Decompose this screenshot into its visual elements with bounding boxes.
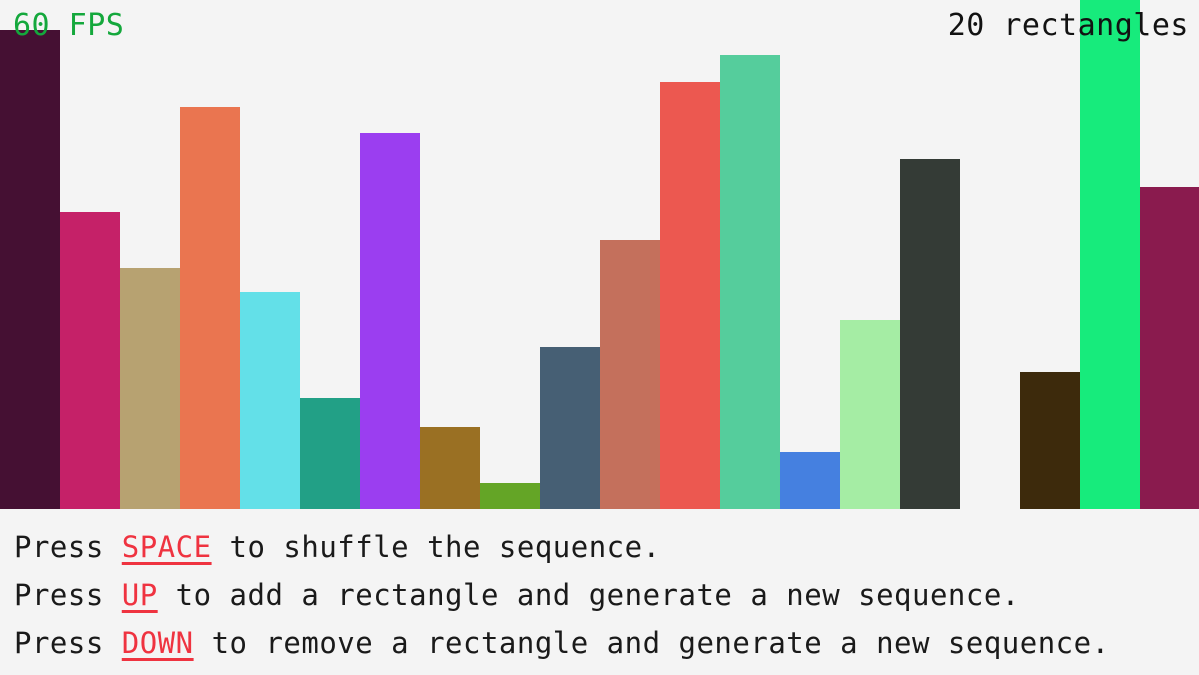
instruction-suffix: to shuffle the sequence.	[212, 530, 661, 564]
bar-rect	[600, 240, 660, 509]
rectangle-visualizer-app: 60 FPS 20 rectangles Press SPACE to shuf…	[0, 0, 1199, 675]
instruction-suffix: to remove a rectangle and generate a new…	[194, 626, 1110, 660]
instruction-prefix: Press	[14, 530, 122, 564]
key-hint-down[interactable]: DOWN	[122, 626, 194, 660]
bar-rect	[180, 107, 240, 509]
bar-rect	[480, 483, 540, 509]
rectangle-count-label: 20 rectangles	[948, 11, 1189, 41]
bar-chart-canvas[interactable]	[0, 0, 1199, 509]
bar-rect	[300, 398, 360, 509]
bar-rect	[1080, 0, 1140, 509]
bar-rect	[660, 82, 720, 509]
bar-rect	[840, 320, 900, 509]
bar-rect	[780, 452, 840, 509]
bar-rect	[1020, 372, 1080, 509]
key-hint-up[interactable]: UP	[122, 578, 158, 612]
fps-counter: 60 FPS	[13, 11, 124, 41]
instruction-line: Press SPACE to shuffle the sequence.	[14, 523, 1199, 571]
bar-rect	[720, 55, 780, 509]
bar-rect	[120, 268, 180, 509]
bar-rect	[240, 292, 300, 509]
bar-rect	[900, 159, 960, 509]
bar-rect	[1140, 187, 1199, 509]
instruction-line: Press DOWN to remove a rectangle and gen…	[14, 619, 1199, 667]
bar-rect	[360, 133, 420, 509]
bar-rect	[60, 212, 120, 509]
key-hint-space[interactable]: SPACE	[122, 530, 212, 564]
bar-rect	[420, 427, 480, 509]
instructions-panel: Press SPACE to shuffle the sequence.Pres…	[0, 509, 1199, 675]
instruction-line: Press UP to add a rectangle and generate…	[14, 571, 1199, 619]
instruction-suffix: to add a rectangle and generate a new se…	[158, 578, 1020, 612]
instruction-prefix: Press	[14, 578, 122, 612]
bar-rect	[0, 30, 60, 509]
bar-rect	[540, 347, 600, 509]
instruction-prefix: Press	[14, 626, 122, 660]
